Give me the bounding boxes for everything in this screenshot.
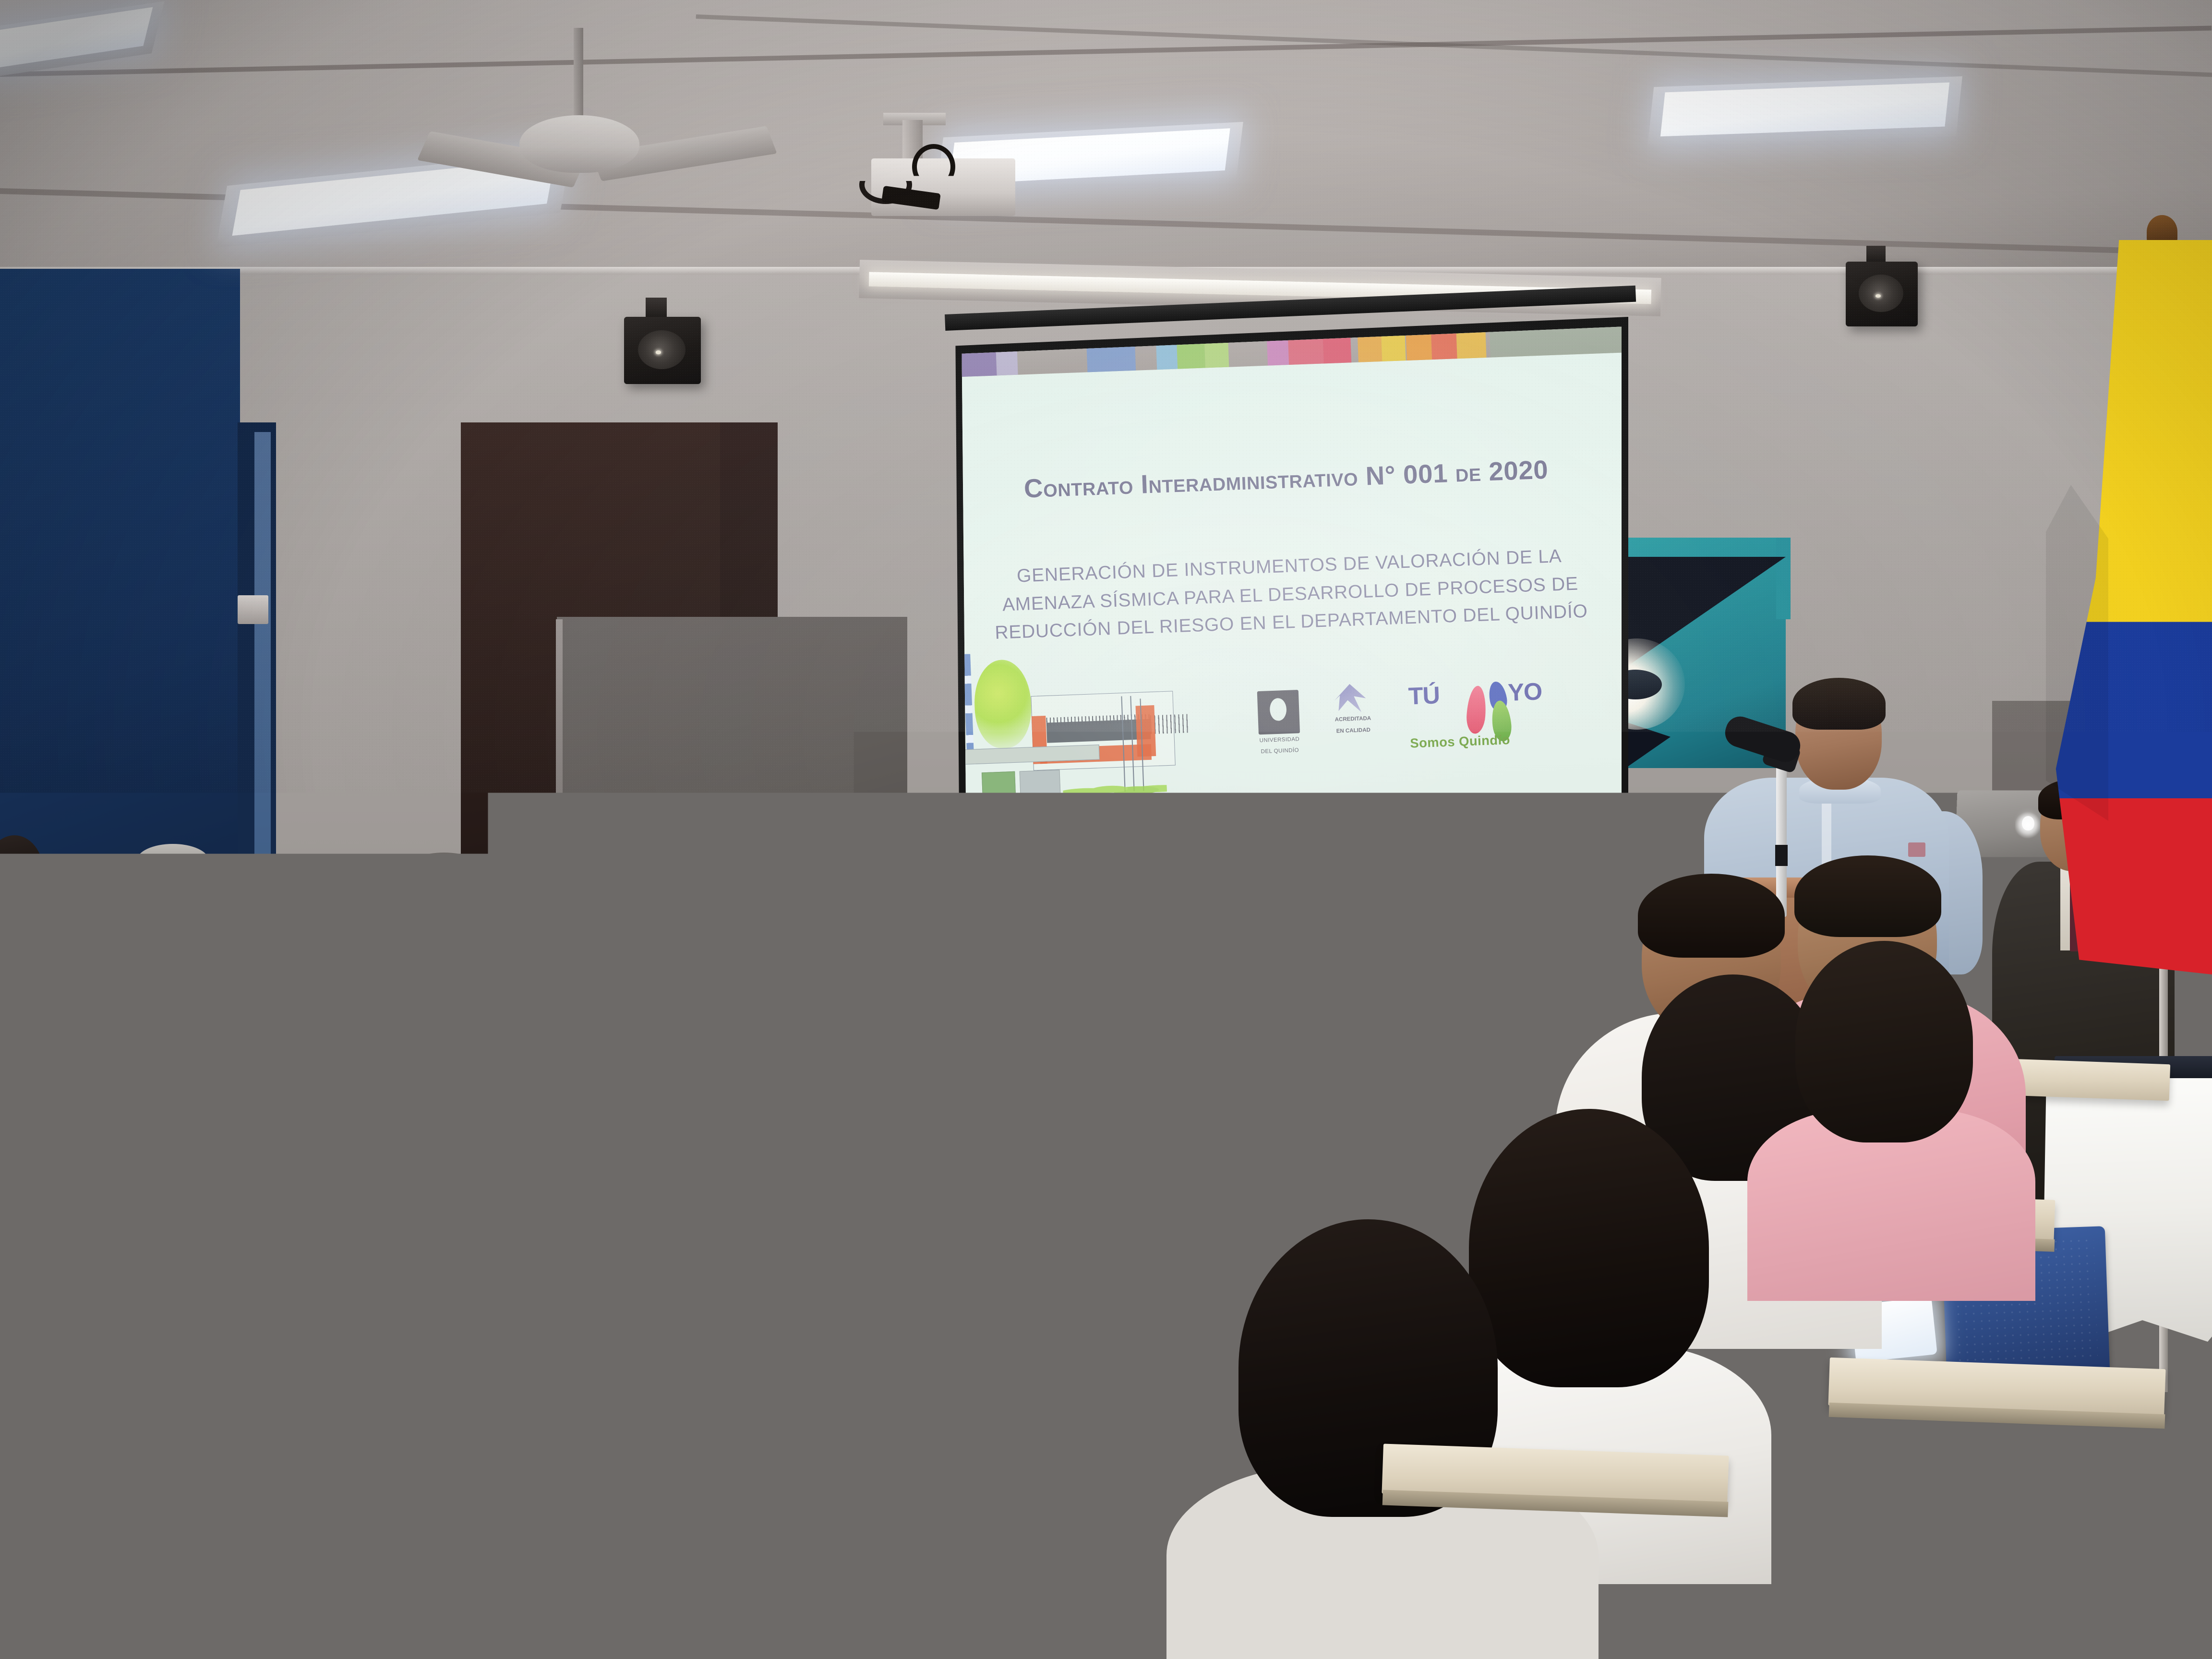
logo-universidad-del-quindio: UNIVERSIDAD DEL QUINDÍO (1249, 689, 1309, 762)
wall-box (238, 595, 268, 624)
logo-text: DEL QUINDÍO (1249, 747, 1311, 755)
audience-hair (1794, 855, 1941, 937)
audience-hair (1638, 874, 1785, 958)
presenter-shirt-pocket (1908, 842, 1925, 857)
logo-word-tu: TÚ (1408, 682, 1440, 710)
presenter-hair (1792, 678, 1886, 730)
foreground-head (0, 1181, 278, 1613)
logo-acreditacion: ACREDITADA EN CALIDAD (1317, 684, 1388, 757)
panelist-hair (137, 844, 209, 878)
slide-illustration (959, 666, 1202, 845)
apple-logo-icon (2022, 816, 2034, 830)
speaker-cone-icon (638, 330, 685, 369)
logo-text: UNIVERSIDAD (1248, 735, 1311, 744)
building-door-green (982, 771, 1016, 810)
ceiling-fan-rod (574, 28, 583, 119)
shrub-icon (1062, 776, 1167, 802)
university-mark-icon (1257, 689, 1300, 734)
logo-tu-y-yo-somos-quindio: TÚ YO Somos Quindío (1404, 674, 1595, 770)
microphone-clamp (1775, 845, 1788, 866)
slide-subtitle: GENERACIÓN DE INSTRUMENTOS DE VALORACIÓN… (976, 541, 1605, 647)
speaker-cone-icon (1859, 275, 1903, 312)
notebook[interactable] (244, 1047, 395, 1103)
panelist-hair (407, 853, 481, 882)
logo-tagline: Somos Quindío (1410, 729, 1591, 751)
whiteboard-panel (557, 617, 907, 958)
logo-text: EN CALIDAD (1319, 726, 1388, 735)
tree-icon (973, 659, 1033, 749)
audience-hair (692, 902, 845, 991)
audience-hair (1284, 857, 1421, 934)
wall-speaker-left (624, 317, 701, 384)
logo-text: ACREDITADA (1319, 715, 1388, 723)
audience-hair (968, 860, 1096, 932)
eyeglasses-icon (414, 894, 475, 903)
panelist-beard (422, 912, 467, 942)
audience-head (1469, 1109, 1709, 1387)
microphone-stand[interactable] (1776, 758, 1787, 917)
audience-head (1795, 941, 1973, 1142)
slide-logo-row: UNIVERSIDAD DEL QUINDÍO ACREDITADA EN CA… (1245, 673, 1611, 800)
slide-title: Contrato Interadministrativo N° 001 de 2… (980, 453, 1593, 506)
foreground-hand (806, 1522, 974, 1659)
building-railing (1150, 714, 1189, 734)
ceiling-fan-motor (519, 115, 639, 173)
wall-speaker-right (1846, 262, 1918, 326)
projection-screen: #UniquindioEnRuta Contrato Interadminist… (959, 325, 1622, 865)
petal-icon (1466, 685, 1488, 734)
whiteboard-edge (556, 619, 563, 955)
wing-icon (1334, 684, 1367, 716)
logo-word-yo: YO (1507, 678, 1542, 707)
projected-slide: #UniquindioEnRuta Contrato Interadminist… (959, 325, 1622, 865)
auditorium-scene: #UniquindioEnRuta Contrato Interadminist… (0, 0, 2212, 1659)
building-door-gray (1020, 770, 1061, 802)
flag-fold-shadow (2046, 485, 2108, 821)
wall-strip (254, 432, 271, 998)
